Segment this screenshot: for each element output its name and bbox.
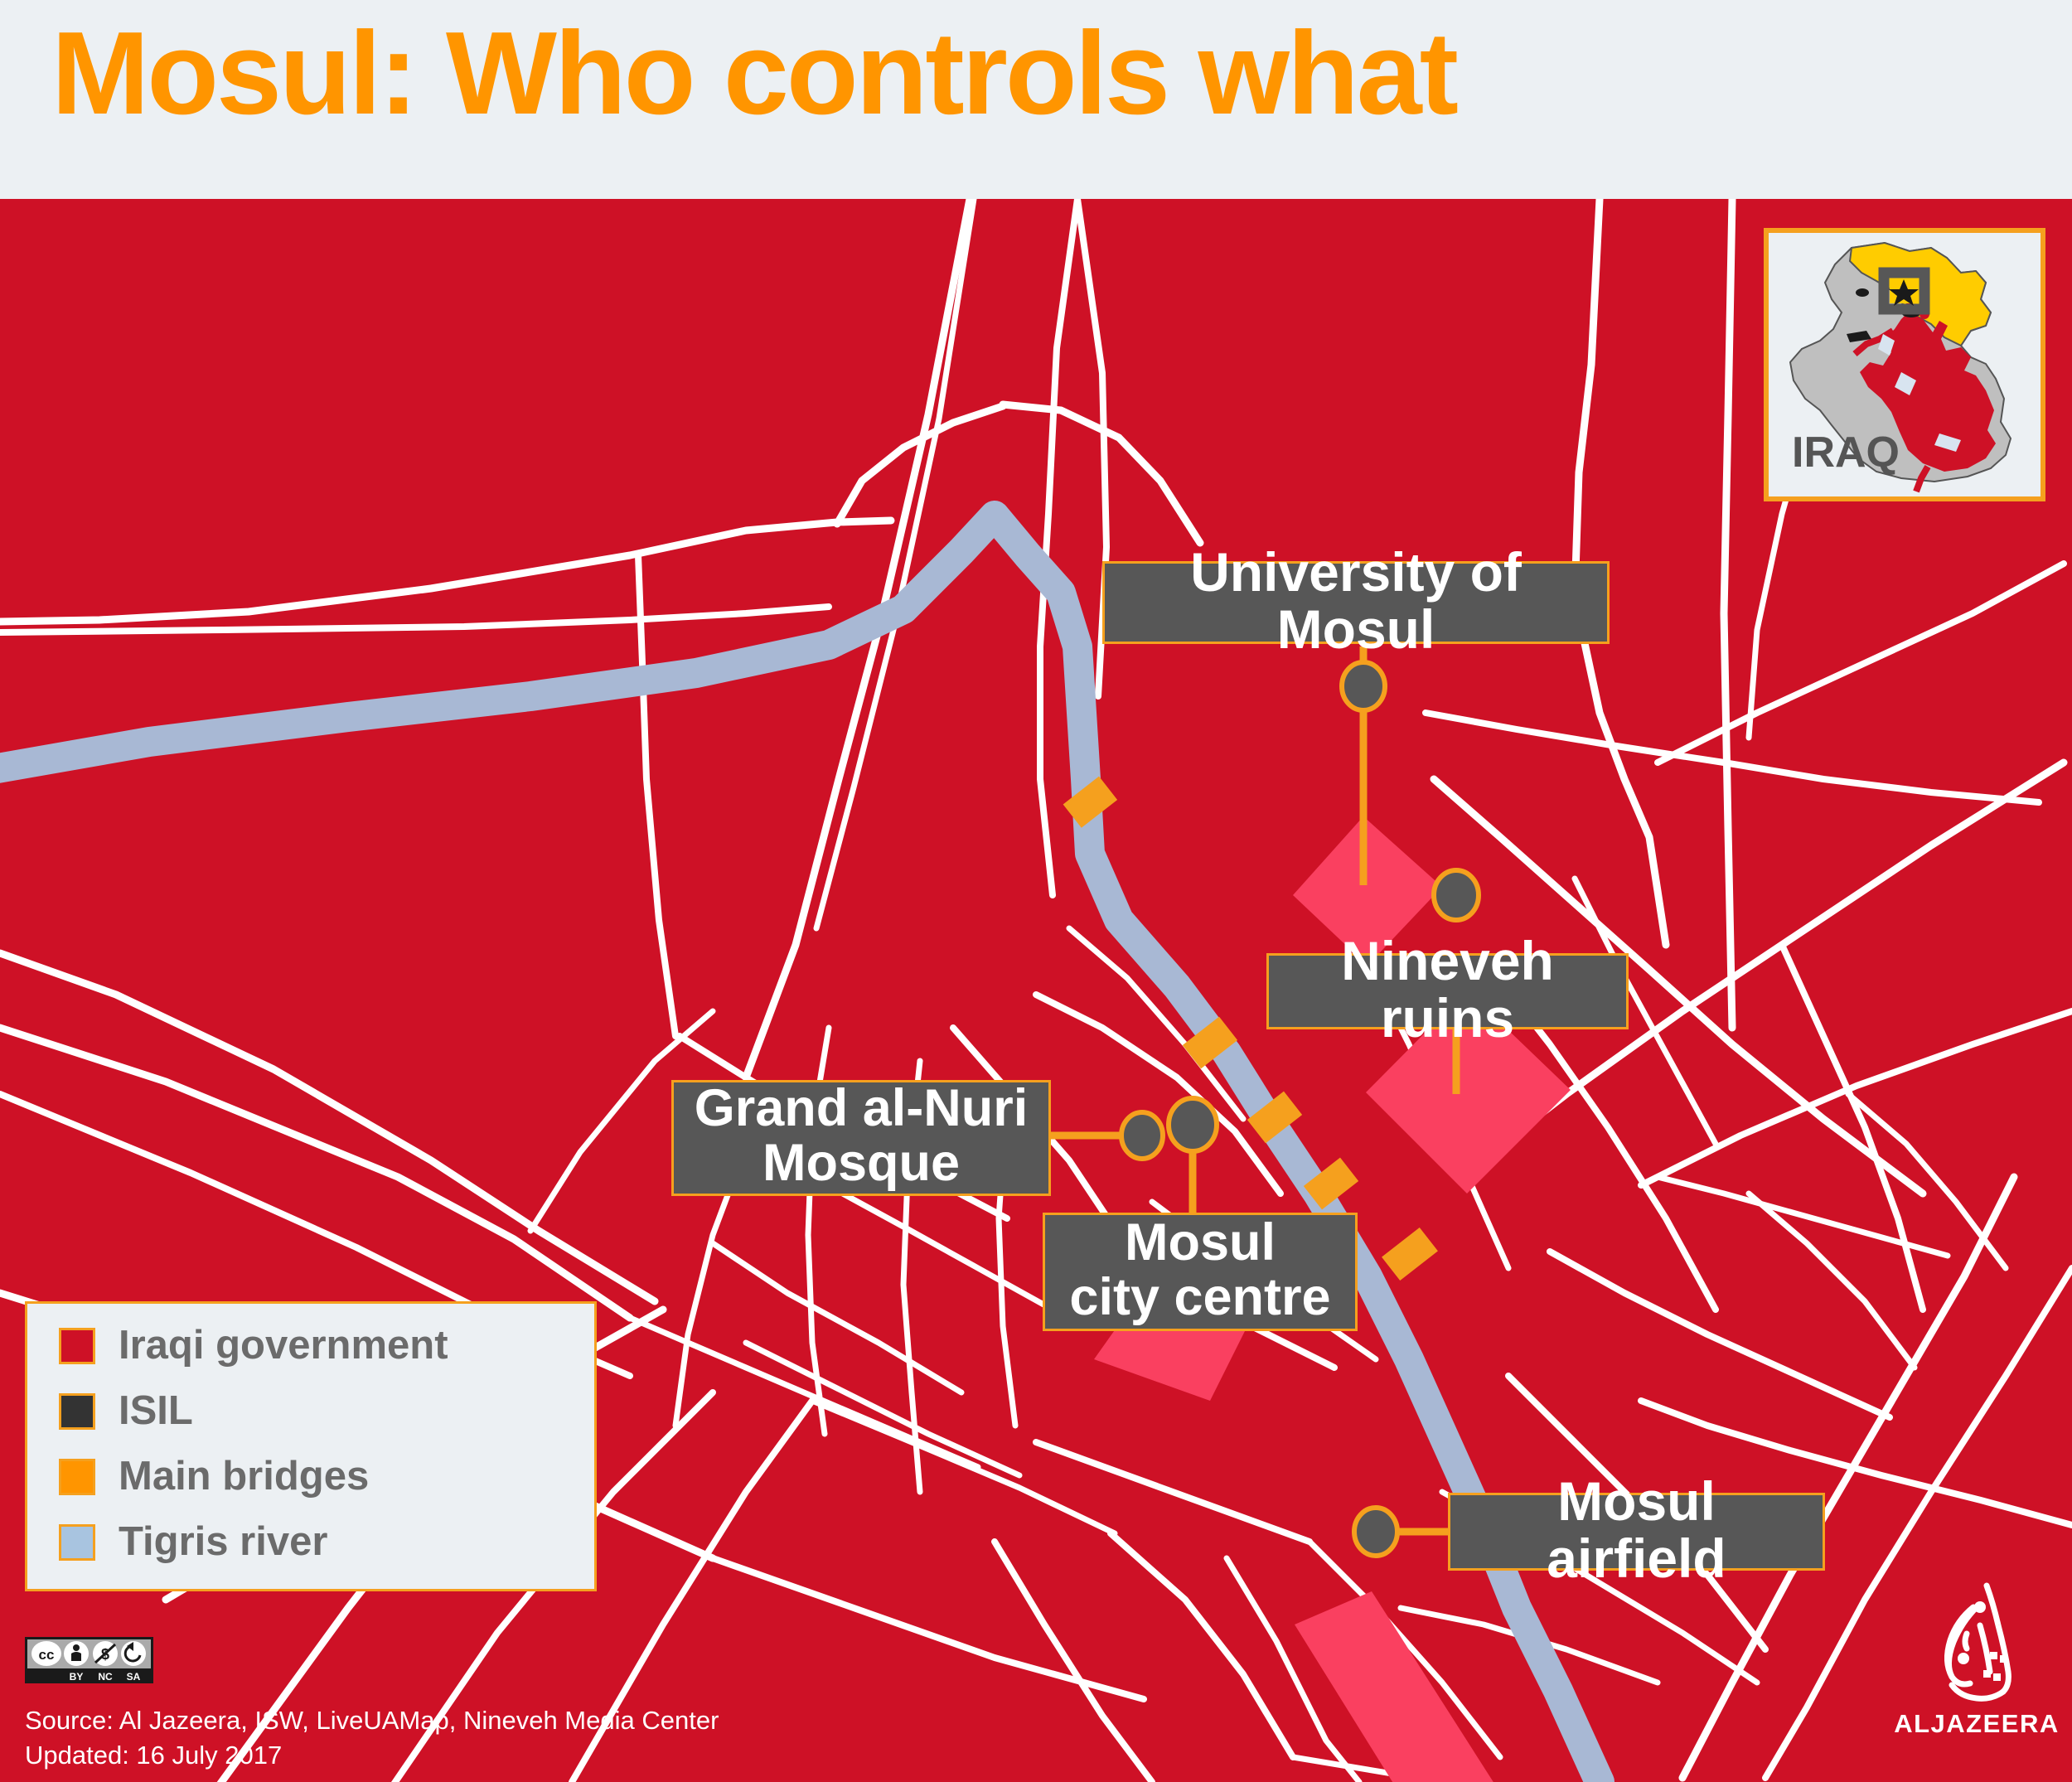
legend-item-isil[interactable]: ISIL	[59, 1391, 594, 1431]
marker-airfield	[1354, 1508, 1397, 1556]
calligraphy-dot-4	[2000, 1655, 2007, 1663]
svg-text:SA: SA	[127, 1671, 141, 1683]
marker-university	[1342, 662, 1385, 710]
label-university-of-mosul[interactable]: University of Mosul	[1102, 561, 1610, 644]
inset-country-label: IRAQ	[1792, 428, 1900, 477]
marker-city-centre	[1169, 1098, 1217, 1151]
label-text: Nineveh ruins	[1282, 932, 1613, 1046]
legend-label: Main bridges	[119, 1456, 369, 1497]
label-text: Grand al-Nuri Mosque	[695, 1082, 1029, 1190]
aljazeera-logo: ALJAZEERA	[1894, 1579, 2060, 1757]
calligraphy-dot-6	[1993, 1673, 2001, 1681]
legend-swatch-main-bridges	[59, 1459, 95, 1495]
calligraphy-dot-1	[1974, 1601, 1986, 1613]
legend-swatch-isil	[59, 1393, 95, 1430]
legend-swatch-iraqi-government	[59, 1328, 95, 1364]
label-mosul-city-centre[interactable]: Mosul city centre	[1043, 1213, 1358, 1331]
page-title: Mosul: Who controls what	[51, 15, 1456, 133]
calligraphy-dot-3	[1990, 1652, 1997, 1659]
svg-text:BY: BY	[70, 1671, 84, 1683]
svg-text:NC: NC	[98, 1671, 113, 1683]
calligraphy-dot-2	[1958, 1653, 1969, 1664]
label-nineveh-ruins[interactable]: Nineveh ruins	[1266, 953, 1629, 1029]
legend-label: ISIL	[119, 1391, 193, 1431]
label-text: Mosul airfield	[1464, 1473, 1809, 1586]
legend-swatch-tigris-river	[59, 1524, 95, 1561]
brand-wordmark: ALJAZEERA	[1894, 1709, 2060, 1738]
svg-text:cc: cc	[39, 1647, 55, 1663]
header-bar: Mosul: Who controls what	[0, 0, 2072, 199]
inset-map-iraq: IRAQ	[1764, 228, 2045, 501]
bridge-5	[1382, 1228, 1438, 1281]
legend-label: Iraqi government	[119, 1325, 448, 1366]
city-dot-1	[1856, 288, 1869, 297]
label-text: Mosul city centre	[1069, 1216, 1330, 1324]
cc-badge-svg: cc $ BY NC SA	[25, 1637, 153, 1683]
legend-item-main-bridges[interactable]: Main bridges	[59, 1456, 594, 1497]
aljazeera-logo-svg: ALJAZEERA	[1894, 1579, 2060, 1757]
map-canvas[interactable]: IRAQ University of Mosul Nineveh ruins G…	[0, 199, 2072, 1782]
source-line: Source: Al Jazeera, ISW, LiveUAMap, Nine…	[25, 1703, 719, 1738]
updated-line: Updated: 16 July 2017	[25, 1738, 719, 1773]
source-block: Source: Al Jazeera, ISW, LiveUAMap, Nine…	[25, 1703, 719, 1773]
map-legend: Iraqi government ISIL Main bridges Tigri…	[25, 1301, 597, 1591]
label-text: University of Mosul	[1118, 544, 1594, 657]
legend-label: Tigris river	[119, 1522, 327, 1562]
creative-commons-badge[interactable]: cc $ BY NC SA	[25, 1637, 153, 1683]
marker-grand-al-nuri	[1121, 1112, 1163, 1159]
legend-item-iraqi-government[interactable]: Iraqi government	[59, 1325, 594, 1366]
legend-item-tigris-river[interactable]: Tigris river	[59, 1522, 594, 1562]
infographic-root: Mosul: Who controls what	[0, 0, 2072, 1782]
calligraphy-dot-5	[1983, 1670, 1991, 1678]
marker-nineveh	[1434, 870, 1479, 920]
label-grand-al-nuri-mosque[interactable]: Grand al-Nuri Mosque	[671, 1080, 1051, 1196]
label-mosul-airfield[interactable]: Mosul airfield	[1448, 1493, 1825, 1571]
